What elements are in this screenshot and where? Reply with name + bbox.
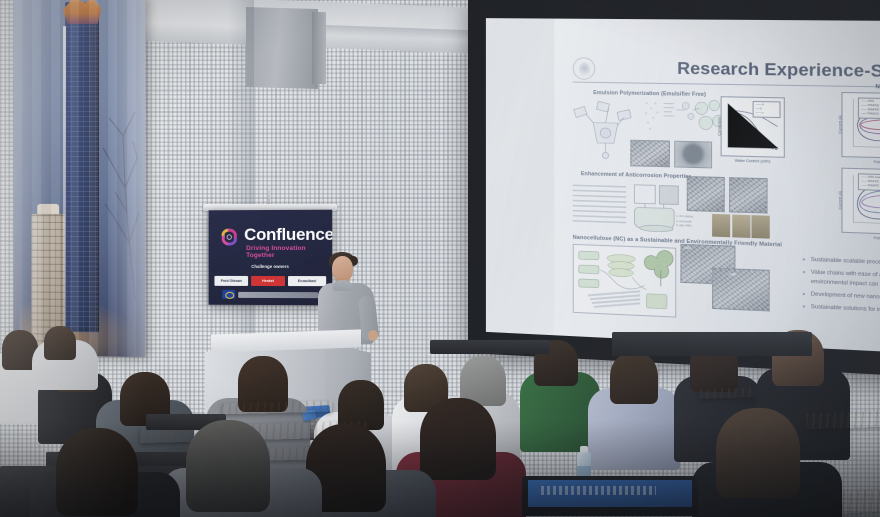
slide-bullet-4: Sustainable solutions for improvem indus… [802,303,880,319]
university-logo-icon [573,57,596,80]
wall-column [246,7,318,89]
water-bottle-label [577,466,591,476]
cv-plot-top-legend: —— PANI—— PANI/NC—— PANI/NC 0.5—— PANI/N… [858,97,880,118]
cnf-micrograph [712,268,770,312]
eu-funding-text [238,291,318,297]
conference-room-photo: Research Experience-Scope Emulsion Polym… [0,0,880,517]
audience-head [186,420,270,512]
presentation-slide: Research Experience-Scope Emulsion Polym… [554,19,880,353]
banner-partners-heading: Challenge owners [209,264,333,269]
audience-laptop [522,476,698,516]
tem-micrograph-droplet [674,141,712,169]
audience-head [610,352,658,404]
banner-stand-pole [268,186,270,206]
conversion-plot-xlabel: Water Content (wt%) [722,158,784,164]
projection-screen-surface: Research Experience-Scope Emulsion Polym… [486,18,880,352]
slide-section-label-2: Enhancement of Anticorrosion Properties [581,171,692,180]
audience-laptop-screen [528,480,692,507]
chair-backrest [430,340,550,354]
wooden-bench-table [806,411,880,430]
sponsor-logo-2: Henkel [251,275,285,285]
slide-title-underline [573,82,880,88]
confluence-banner: Confluence Driving Innovation Together C… [209,210,333,306]
cv-plot-bottom-legend: —— PANI scan 10—— PANI/NC scan 50—— PANI… [858,173,880,191]
slide-right-heading: Nanocomposites [875,84,880,91]
audience-head [44,326,76,360]
confluence-pinwheel-icon [218,226,240,248]
cnc-micrograph-label: CNC [684,246,692,250]
slide-bullet-2: Value chains with ease of applicab envir… [802,268,880,293]
audience-head [716,408,800,498]
sponsor-logo-1: Ford Otosan [214,275,248,285]
slide-title: Research Experience-Scope [677,58,880,82]
slide-bullet-list: Sustainable scalable processes & "g Valu… [802,255,880,321]
conversion-plot: Conversion Water Content (wt%) —— [721,96,785,158]
corrosion-micrograph-1 [687,176,725,212]
projection-screen-bezel: Research Experience-Scope Emulsion Polym… [468,0,880,376]
nanocellulose-value-chain-diagram [573,244,677,318]
chair-backrest [612,332,812,356]
cnf-micrograph-label: CNF [729,272,736,276]
anticorrosion-body-text [573,181,626,227]
wooden-bench-table [700,387,756,399]
city-skyline-banner [13,0,145,357]
conversion-plot-legend: —— a---- b—— c [753,101,781,118]
sem-micrograph-1 [630,140,670,168]
wall-column-side [312,12,326,84]
banner-sponsor-logos: Ford Otosan Henkel Eczacibasi [214,274,326,287]
coated-panel-photos [712,214,770,239]
speaker-turtleneck-collar [333,280,352,291]
banner-eu-funding-strip [222,290,318,299]
corrosion-micrograph-2 [729,177,768,213]
electrodeposition-cell-diagram [630,181,682,234]
banner-brand-name: Confluence [244,225,332,245]
cv-plot-bottom-xlabel: Potential (V) [843,235,880,242]
audience-head [420,398,496,480]
panel-legend-text: 1. zinc plating2. composite3. after 400h [676,215,710,235]
micelle-schematic [643,95,729,140]
eu-flag-icon [222,290,235,299]
audience-head [56,428,138,516]
cv-plot-bottom: Current (A) Potential (V) —— PANI scan 1… [841,168,880,236]
banner-light-fade [13,0,145,357]
cv-plot-top-xlabel: Potential (V) [843,159,880,165]
cv-plot-top: Current (A) Potential (V) —— PANI—— PANI… [841,92,880,159]
